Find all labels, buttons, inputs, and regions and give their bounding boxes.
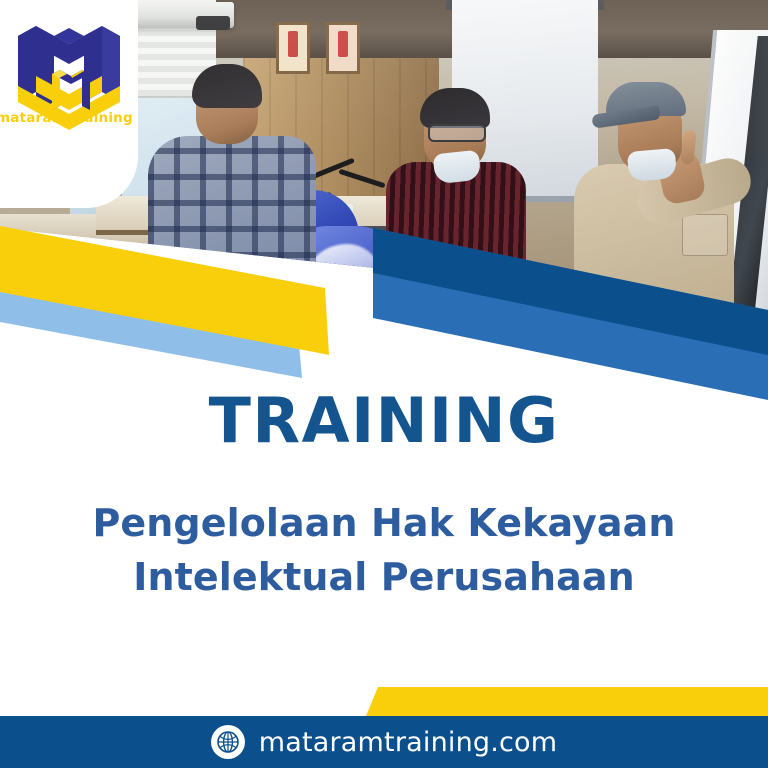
training-poster: mataram training TRAINING Pengelolaan Ha… xyxy=(0,0,768,768)
bottom-yellow-accent xyxy=(0,660,768,720)
headline-block: TRAINING Pengelolaan Hak Kekayaan Intele… xyxy=(0,388,768,605)
subtitle: Pengelolaan Hak Kekayaan Intelektual Per… xyxy=(0,497,768,605)
page-title: TRAINING xyxy=(0,388,768,453)
logo-panel: mataram training xyxy=(0,0,138,208)
brand-logo-text: mataram training xyxy=(0,110,116,126)
subtitle-line-2: Intelektual Perusahaan xyxy=(0,551,768,605)
globe-icon-glyph xyxy=(216,730,240,754)
footer-bar: mataramtraining.com xyxy=(0,716,768,768)
globe-icon xyxy=(211,725,245,759)
subtitle-line-1: Pengelolaan Hak Kekayaan xyxy=(0,497,768,551)
website-url[interactable]: mataramtraining.com xyxy=(259,727,558,758)
